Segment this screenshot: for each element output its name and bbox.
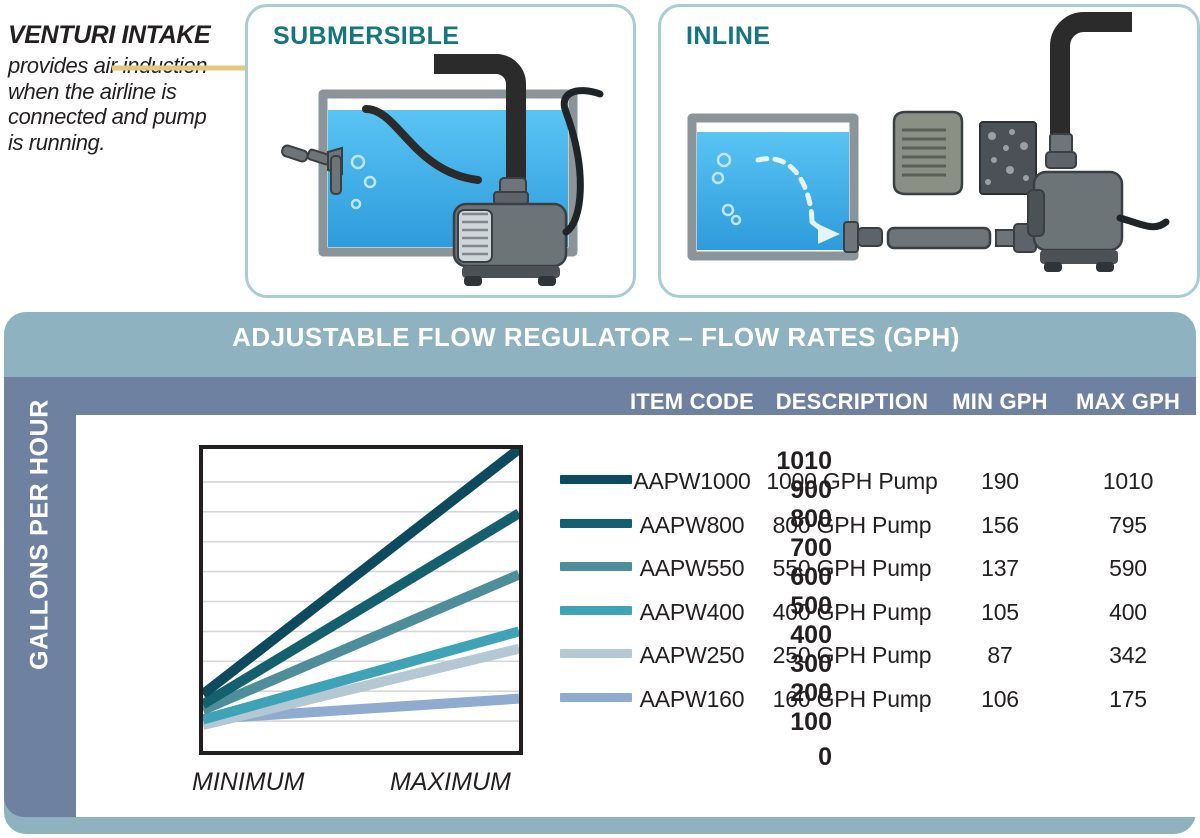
cell-min-gph-aapw160: 106: [940, 688, 1060, 711]
flow-rate-lines: [203, 449, 519, 751]
illustrations-area: VENTURI INTAKE provides air induction wh…: [0, 0, 1200, 300]
cell-min-gph-aapw1000: 190: [940, 470, 1060, 493]
card-title: ADJUSTABLE FLOW REGULATOR – FLOW RATES (…: [0, 322, 1192, 353]
cell-max-gph-aapw400: 400: [1068, 601, 1188, 624]
table-header-description: DESCRIPTION: [762, 389, 942, 415]
cell-description-aapw550: 550 GPH Pump: [757, 557, 947, 580]
cell-item-code-aapw160: AAPW160: [612, 688, 772, 711]
cell-min-gph-aapw400: 105: [940, 601, 1060, 624]
cell-max-gph-aapw250: 342: [1068, 644, 1188, 667]
venturi-callout-title: VENTURI INTAKE: [8, 22, 223, 49]
cell-min-gph-aapw800: 156: [940, 514, 1060, 537]
cell-description-aapw800: 800 GPH Pump: [757, 514, 947, 537]
x-tick-maximum: MAXIMUM: [390, 768, 511, 797]
cell-description-aapw250: 250 GPH Pump: [757, 644, 947, 667]
cell-min-gph-aapw550: 137: [940, 557, 1060, 580]
cell-description-aapw160: 160 GPH Pump: [757, 688, 947, 711]
cell-item-code-aapw1000: AAPW1000: [612, 470, 772, 493]
plot-area: [199, 445, 523, 755]
cell-min-gph-aapw250: 87: [940, 644, 1060, 667]
cell-max-gph-aapw800: 795: [1068, 514, 1188, 537]
y-tick-0: 0: [712, 745, 832, 770]
submersible-illustration: [248, 52, 628, 292]
y-tick-100: 100: [712, 710, 832, 735]
cell-max-gph-aapw550: 590: [1068, 557, 1188, 580]
cell-description-aapw400: 400 GPH Pump: [757, 601, 947, 624]
cell-item-code-aapw250: AAPW250: [612, 644, 772, 667]
cell-item-code-aapw400: AAPW400: [612, 601, 772, 624]
table-header-min-gph: MIN GPH: [940, 389, 1060, 415]
cell-description-aapw1000: 1000 GPH Pump: [757, 470, 947, 493]
panel-submersible-title: SUBMERSIBLE: [273, 22, 459, 51]
y-axis-label: GALLONS PER HOUR: [26, 345, 55, 725]
table-header-item-code: ITEM CODE: [612, 389, 772, 415]
cell-max-gph-aapw160: 175: [1068, 688, 1188, 711]
plot-wrapper: [163, 445, 523, 755]
x-tick-minimum: MINIMUM: [192, 768, 304, 797]
cell-max-gph-aapw1000: 1010: [1068, 470, 1188, 493]
inline-illustration: [662, 10, 1190, 292]
cell-item-code-aapw550: AAPW550: [612, 557, 772, 580]
cell-item-code-aapw800: AAPW800: [612, 514, 772, 537]
table-header-max-gph: MAX GPH: [1068, 389, 1188, 415]
